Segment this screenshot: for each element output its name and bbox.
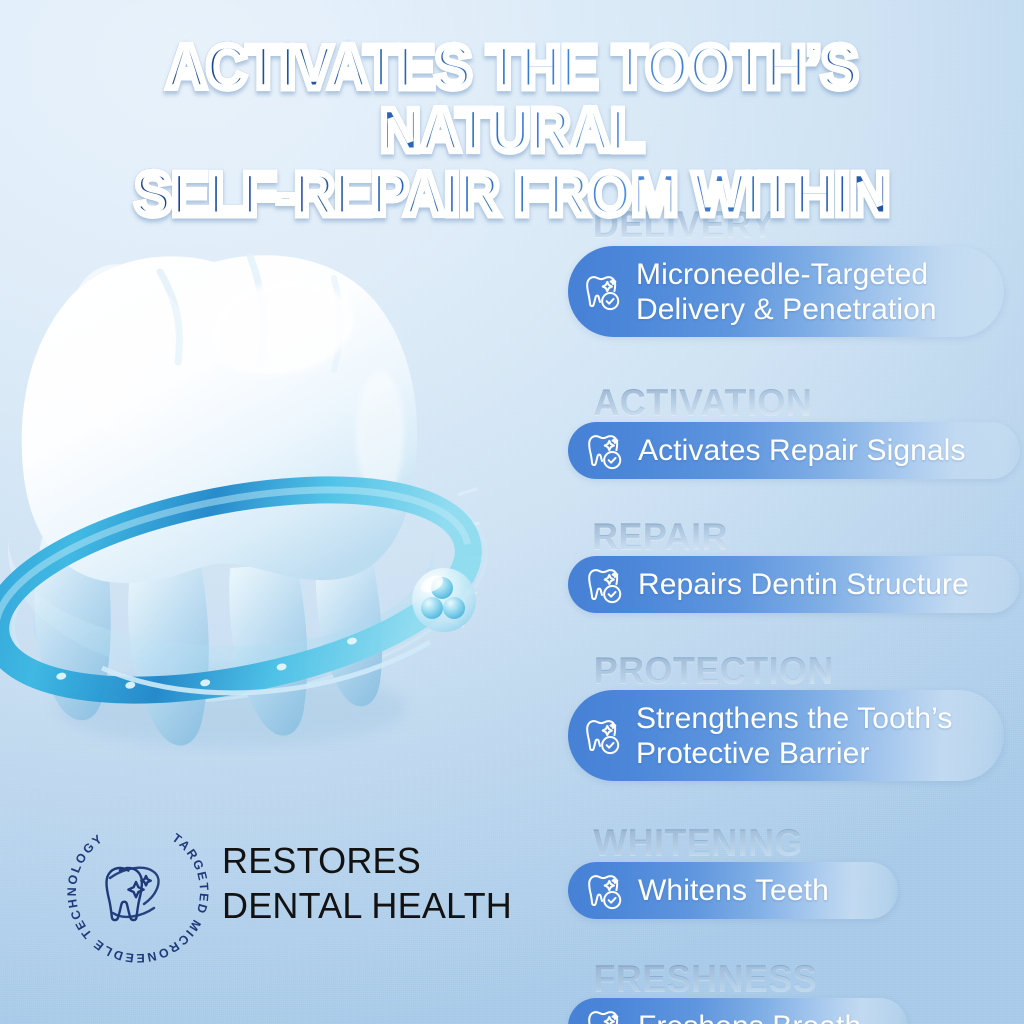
- category-label-protection: PROTECTION: [594, 652, 834, 689]
- benefit-row: REPAIR Repairs Dentin Structure: [564, 518, 1024, 652]
- tooth-artwork: [0, 238, 542, 778]
- benefit-pill-freshness[interactable]: Freshens Breath: [568, 998, 908, 1024]
- poster-canvas: ACTIVATES THE TOOTH’S NATURAL SELF-REPAI…: [0, 0, 1024, 1024]
- tooth-check-icon: [582, 428, 628, 474]
- benefit-row: ACTIVATION Activates Repair Signals: [564, 384, 1024, 518]
- benefit-text-line-2: Delivery & Penetration: [636, 292, 937, 327]
- benefit-text-line-1: Strengthens the Tooth’s: [636, 701, 952, 736]
- benefit-row: DELIVERY Microneedle-Targeted Delivery &…: [564, 206, 1024, 384]
- benefit-list: DELIVERY Microneedle-Targeted Delivery &…: [564, 206, 1024, 1024]
- tooth-check-icon: [582, 562, 628, 608]
- benefit-pill-delivery[interactable]: Microneedle-Targeted Delivery & Penetrat…: [568, 246, 1004, 337]
- headline-line-2: SELF-REPAIR FROM WITHIN: [41, 163, 983, 226]
- benefit-row: WHITENING Whitens Teeth: [564, 824, 1024, 960]
- caption-line-2: DENTAL HEALTH: [222, 883, 512, 928]
- benefit-text: Whitens Teeth: [638, 874, 829, 908]
- caption-line-1: RESTORES: [222, 838, 512, 883]
- benefit-row: PROTECTION Strengthens the Tooth’s Prote…: [564, 652, 1024, 824]
- benefit-text: Strengthens the Tooth’s Protective Barri…: [636, 701, 952, 771]
- benefit-text-line-1: Microneedle-Targeted: [636, 257, 937, 292]
- tooth-check-icon: [580, 269, 626, 315]
- category-label-repair: REPAIR: [592, 518, 728, 555]
- tooth-check-icon: [582, 1004, 628, 1024]
- restores-caption: RESTORES DENTAL HEALTH: [222, 838, 512, 928]
- tooth-check-icon: [582, 868, 628, 914]
- benefit-pill-activation[interactable]: Activates Repair Signals: [568, 422, 1020, 479]
- benefit-pill-repair[interactable]: Repairs Dentin Structure: [568, 556, 1020, 613]
- category-label-whitening: WHITENING: [593, 824, 803, 861]
- benefit-pill-whitening[interactable]: Whitens Teeth: [568, 862, 898, 919]
- headline-line-1: ACTIVATES THE TOOTH’S NATURAL: [41, 36, 983, 162]
- molecule-bubble-three-spheres: [412, 568, 476, 632]
- technology-badge: TARGETED MICRONEEDLE TECHNOLOGY: [58, 812, 218, 972]
- benefit-text: Repairs Dentin Structure: [638, 568, 969, 602]
- benefit-pill-protection[interactable]: Strengthens the Tooth’s Protective Barri…: [568, 690, 1004, 781]
- headline: ACTIVATES THE TOOTH’S NATURAL SELF-REPAI…: [0, 36, 1024, 226]
- badge-circular-text: TARGETED MICRONEEDLE TECHNOLOGY: [65, 831, 211, 965]
- benefit-text-line-2: Protective Barrier: [636, 736, 952, 771]
- tooth-illustration-svg: [0, 238, 542, 778]
- benefit-row: FRESHNESS Freshens Breath: [564, 960, 1024, 1024]
- category-label-freshness: FRESHNESS: [593, 960, 817, 997]
- category-label-activation: ACTIVATION: [593, 384, 812, 421]
- benefit-text: Microneedle-Targeted Delivery & Penetrat…: [636, 257, 937, 327]
- benefit-text: Freshens Breath: [638, 1010, 861, 1024]
- tooth-sparkle-orbit-icon: [107, 868, 159, 920]
- tooth-check-icon: [580, 713, 626, 759]
- badge-svg: TARGETED MICRONEEDLE TECHNOLOGY: [58, 812, 218, 972]
- benefit-text: Activates Repair Signals: [638, 434, 966, 468]
